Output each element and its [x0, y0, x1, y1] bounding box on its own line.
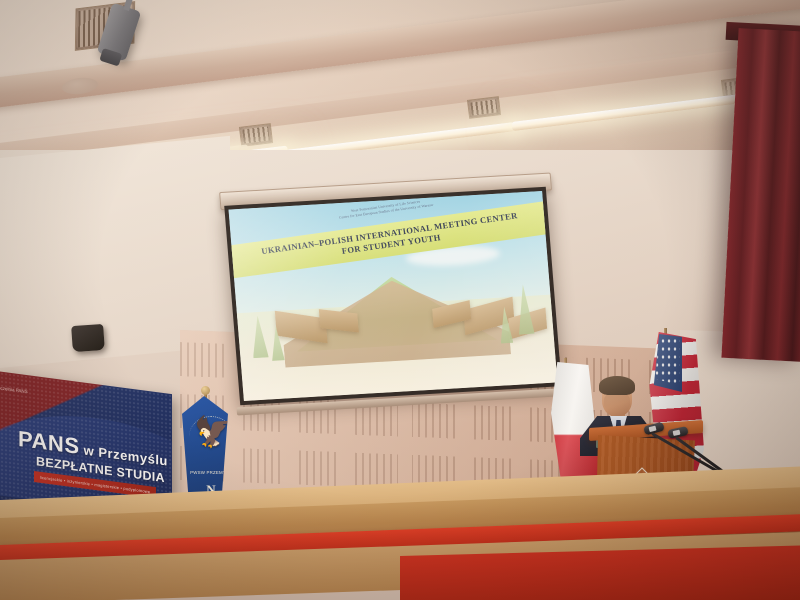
- eagle-crest-icon: 🦅: [194, 418, 228, 466]
- ceremonial-flag-text: PWSW PRZEMYŚL: [190, 470, 232, 475]
- screen-frame: West Pomeranian University of Life Scien…: [224, 187, 562, 405]
- microphone-band: [649, 426, 657, 433]
- speaker-face-shading: [604, 392, 630, 412]
- ceiling-vent-icon: [467, 96, 501, 119]
- ceiling-vent-icon: [239, 123, 273, 147]
- microphone-band: [673, 430, 681, 436]
- slide-roof-wing: [318, 309, 358, 333]
- conference-hall-photo: West Pomeranian University of Life Scien…: [0, 0, 800, 600]
- projection-screen: West Pomeranian University of Life Scien…: [224, 187, 562, 405]
- slide-surface: West Pomeranian University of Life Scien…: [229, 191, 558, 401]
- speaker-hair: [599, 376, 635, 395]
- wall-loudspeaker: [71, 324, 105, 352]
- flag-finial-icon: [201, 386, 210, 395]
